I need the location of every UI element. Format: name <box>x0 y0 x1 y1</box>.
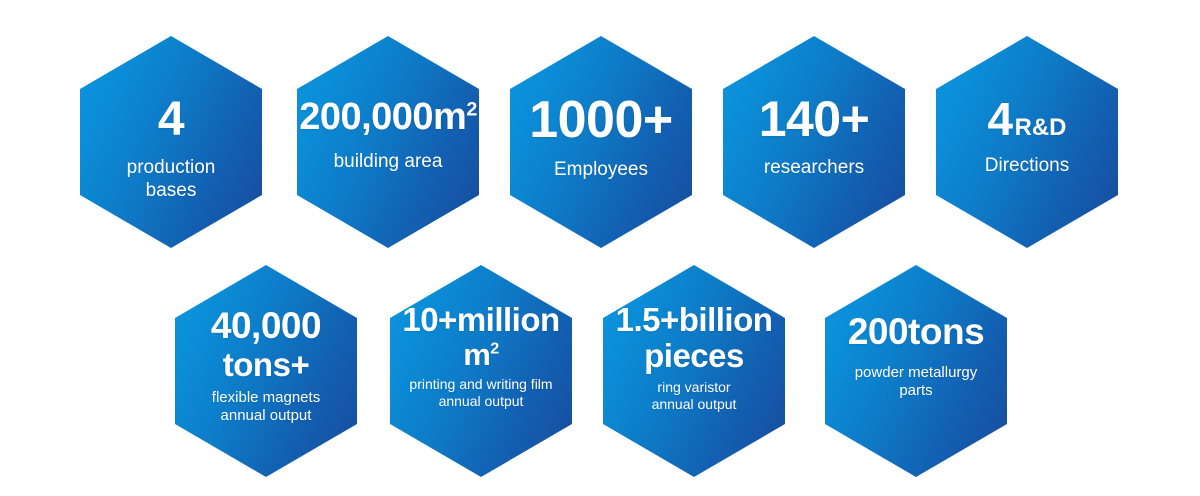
stat-value: 140+ <box>759 94 870 144</box>
stat-content: 1.5+billion pieces ring varistor annual … <box>603 265 785 413</box>
stat-value-unit: m2 <box>463 339 499 370</box>
stat-label: Directions <box>985 154 1069 177</box>
stat-label-line: parts <box>855 382 978 400</box>
stat-label-line: powder metallurgy <box>855 364 978 382</box>
stat-label-line: annual output <box>652 396 737 413</box>
stat-label-line: annual output <box>212 407 320 425</box>
stat-content: 140+ researchers <box>723 36 905 179</box>
stat-label-line: production <box>127 156 216 179</box>
superscript-two: 2 <box>466 98 476 120</box>
stat-label: powder metallurgy parts <box>855 364 978 401</box>
stat-hexagon-production-bases[interactable]: 4 production bases <box>80 36 262 248</box>
stat-label-line: flexible magnets <box>212 389 320 407</box>
stat-value: 4R&D <box>988 96 1067 142</box>
stat-label: Employees <box>554 158 648 181</box>
stat-label: ring varistor annual output <box>652 379 737 413</box>
stat-value: 40,000 <box>211 307 321 344</box>
stat-label-line: building area <box>334 150 443 173</box>
stat-label-line: Employees <box>554 158 648 181</box>
stat-label: printing and writing film annual output <box>409 376 552 410</box>
stat-value: 10+million <box>402 303 559 336</box>
stat-label-line: printing and writing film <box>409 376 552 393</box>
stat-hexagon-flexible-magnets[interactable]: 40,000 tons+ flexible magnets annual out… <box>175 265 357 477</box>
stat-value-unit: tons+ <box>223 348 309 381</box>
stat-value: 1.5+billion <box>616 303 773 336</box>
stat-content: 10+million m2 printing and writing film … <box>390 265 572 410</box>
superscript-two: 2 <box>490 340 498 358</box>
stat-label: production bases <box>127 156 216 202</box>
stats-infographic: 4 production bases 200,000m2 building ar… <box>0 0 1200 496</box>
stat-value: 200,000m2 <box>299 98 477 136</box>
stat-content: 4R&D Directions <box>936 36 1118 177</box>
stat-label-line: annual output <box>409 393 552 410</box>
stat-value-unit-text: m <box>463 337 490 372</box>
stat-label: flexible magnets annual output <box>212 389 320 426</box>
stat-hexagon-powder-metallurgy[interactable]: 200tons powder metallurgy parts <box>825 265 1007 477</box>
stat-hexagon-researchers[interactable]: 140+ researchers <box>723 36 905 248</box>
stat-content: 4 production bases <box>80 36 262 202</box>
stat-value: 200tons <box>848 313 984 350</box>
stat-content: 40,000 tons+ flexible magnets annual out… <box>175 265 357 426</box>
stat-value-suffix: R&D <box>1015 114 1067 141</box>
stat-label-line: ring varistor <box>652 379 737 396</box>
stat-content: 200tons powder metallurgy parts <box>825 265 1007 401</box>
stat-label-line: researchers <box>764 156 864 179</box>
stat-hexagon-printing-film[interactable]: 10+million m2 printing and writing film … <box>390 265 572 477</box>
stat-hexagon-building-area[interactable]: 200,000m2 building area <box>297 36 479 248</box>
stat-label-line: Directions <box>985 154 1069 177</box>
stat-hexagon-employees[interactable]: 1000+ Employees <box>510 36 692 248</box>
stat-value: 4 <box>158 96 184 144</box>
stat-label: building area <box>334 150 443 173</box>
stat-value: 1000+ <box>529 94 673 146</box>
stat-hexagon-rd-directions[interactable]: 4R&D Directions <box>936 36 1118 248</box>
stat-label: researchers <box>764 156 864 179</box>
stat-label-line: bases <box>127 179 216 202</box>
stat-hexagon-ring-varistor[interactable]: 1.5+billion pieces ring varistor annual … <box>603 265 785 477</box>
stat-content: 1000+ Employees <box>510 36 692 181</box>
stat-value-unit: pieces <box>644 339 744 372</box>
stat-value-text: 200,000m <box>299 96 466 138</box>
stat-content: 200,000m2 building area <box>297 36 479 173</box>
stat-value-text: 4 <box>988 93 1013 145</box>
